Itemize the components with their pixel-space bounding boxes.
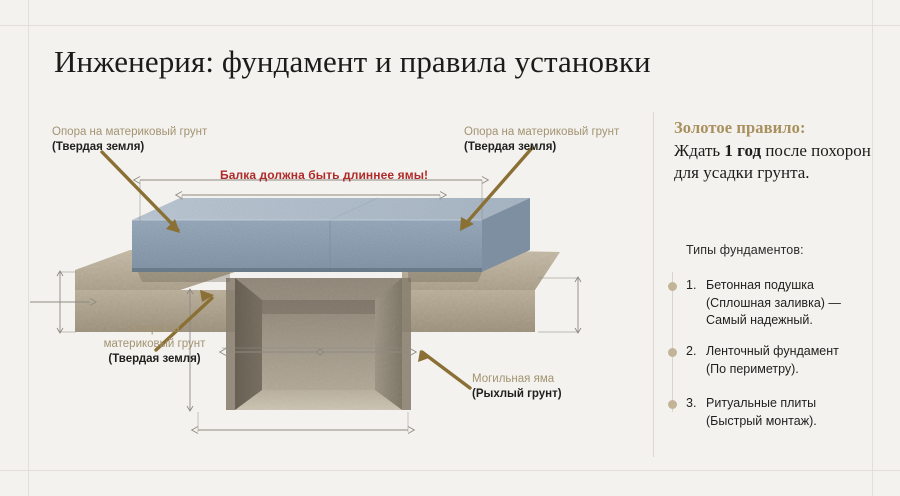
list-item[interactable]: 1. Бетонная подушка (Сплошная заливка) —… — [686, 277, 876, 330]
grave-pit — [235, 278, 402, 410]
soil-right-front — [402, 290, 535, 332]
label-tan-line2: материковый грунт — [104, 338, 206, 350]
warning-text: Балка должна быть длиннее ямы! — [220, 168, 428, 182]
foundation-diagram: Балка должна быть длиннее ямы! Опора на … — [30, 100, 650, 460]
list-item-line1: Бетонная подушка — [706, 277, 876, 295]
list-item-line2: (По периметру). — [706, 361, 876, 379]
golden-rule-bold: 1 год — [724, 141, 761, 160]
label-support-top-right: Опора на материковый грунт (Твердая земл… — [464, 125, 639, 155]
beam-shadow-left — [138, 272, 230, 282]
slide-canvas: Инженерия: фундамент и правила установки — [0, 0, 900, 496]
list-item-line2: (Сплошная заливка) — — [706, 295, 876, 313]
label-tan-text: Могильная яма — [472, 373, 554, 385]
page-title: Инженерия: фундамент и правила установки — [54, 44, 651, 80]
golden-rule-block: Золотое правило: Ждать 1 год после похор… — [674, 118, 884, 184]
label-tan-text: Опора на материковый грунт — [464, 126, 619, 138]
label-tan-line1: Опора на — [129, 323, 179, 335]
frame-line-bottom — [0, 470, 900, 471]
label-grave-pit: Могильная яма (Рыхлый грунт) — [472, 372, 632, 402]
label-dark-text: (Твердая земля) — [52, 141, 144, 153]
bullet-dot-2 — [668, 348, 677, 357]
label-dark-text: (Твердая земля) — [108, 353, 200, 365]
list-item[interactable]: 2. Ленточный фундамент (По периметру). — [686, 343, 876, 378]
list-item-number: 3. — [686, 395, 704, 413]
label-support-top-left: Опора на материковый грунт (Твердая земл… — [52, 125, 227, 155]
timeline-rail — [672, 272, 673, 412]
concrete-beam — [132, 198, 530, 272]
list-item-number: 2. — [686, 343, 704, 361]
label-dark-text: (Твердая земля) — [464, 141, 556, 153]
bullet-dot-1 — [668, 282, 677, 291]
types-heading: Типы фундаментов: — [686, 243, 804, 257]
list-item-line3: Самый надежный. — [706, 312, 876, 330]
list-item-line1: Ленточный фундамент — [706, 343, 876, 361]
frame-line-top — [0, 25, 900, 26]
beam-shadow-right — [408, 272, 482, 282]
label-tan-text: Опора на материковый грунт — [52, 126, 207, 138]
column-divider — [653, 112, 654, 457]
golden-rule-before: Ждать — [674, 141, 724, 160]
list-item-line2: (Быстрый монтаж). — [706, 413, 876, 431]
frame-line-left — [28, 0, 29, 496]
label-support-bottom-left: Опора на материковый грунт (Твердая земл… — [72, 322, 237, 367]
bullet-dot-3 — [668, 400, 677, 409]
list-item-number: 1. — [686, 277, 704, 295]
golden-rule-body: Ждать 1 год после похорон для усадки гру… — [674, 140, 884, 184]
golden-rule-heading: Золотое правило: — [674, 118, 884, 138]
list-item[interactable]: 3. Ритуальные плиты (Быстрый монтаж). — [686, 395, 876, 430]
label-dark-text: (Рыхлый грунт) — [472, 388, 562, 400]
list-item-line1: Ритуальные плиты — [706, 395, 876, 413]
